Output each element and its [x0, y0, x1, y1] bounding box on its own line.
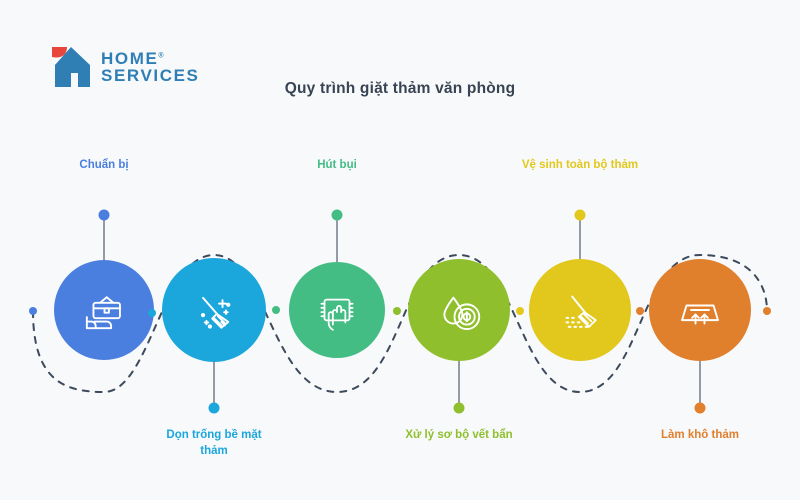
- process-step-circle-1[interactable]: [54, 260, 154, 360]
- process-step-circle-2[interactable]: [162, 258, 266, 362]
- process-step-circle-3[interactable]: [289, 262, 385, 358]
- connector-dot-1: [29, 307, 37, 315]
- broom-sparkle-icon: [187, 283, 242, 338]
- stem-dot-4: [454, 403, 465, 414]
- stem-dot-1: [99, 210, 110, 221]
- connector-dot-3: [272, 306, 280, 314]
- infographic-canvas: HOME® SERVICES Quy trình giặt thảm văn p…: [0, 0, 800, 500]
- connector-dot-4: [393, 307, 401, 315]
- stem-dot-6: [695, 403, 706, 414]
- connector-dot-6: [636, 307, 644, 315]
- connector-dot-2: [148, 309, 156, 317]
- broom-dust-icon: [553, 283, 607, 337]
- process-step-label-1: Chuẩn bị: [14, 158, 194, 174]
- process-step-label-2: Dọn trống bề mặt thảm: [124, 428, 304, 459]
- hand-cloth-icon: [312, 285, 362, 335]
- process-step-circle-4[interactable]: [408, 259, 510, 361]
- process-step-circle-6[interactable]: [649, 259, 751, 361]
- carpet-dry-arrows-icon: [673, 283, 727, 337]
- stem-dot-5: [575, 210, 586, 221]
- droplet-stain-icon: [432, 283, 486, 337]
- label-stems: [0, 0, 800, 500]
- connector-dot-7: [763, 307, 771, 315]
- connector-dot-5: [516, 307, 524, 315]
- process-step-label-6: Làm khô thảm: [610, 428, 790, 444]
- stem-dot-3: [332, 210, 343, 221]
- process-step-label-5: Vệ sinh toàn bộ thảm: [490, 158, 670, 174]
- toolbox-bed-icon: [78, 284, 131, 337]
- process-step-circle-5[interactable]: [529, 259, 631, 361]
- process-step-label-4: Xử lý sơ bộ vết bẩn: [369, 428, 549, 444]
- process-step-label-3: Hút bụi: [247, 158, 427, 174]
- stem-dot-2: [209, 403, 220, 414]
